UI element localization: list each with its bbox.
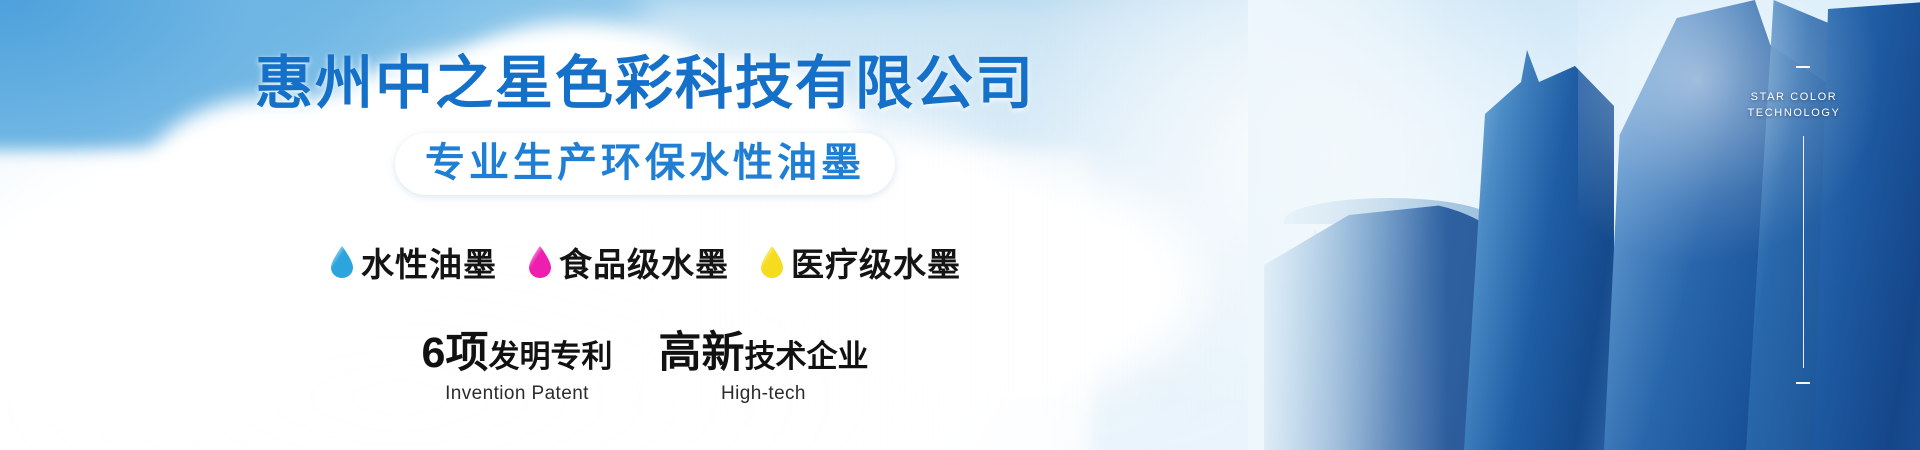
badge-subtext: 技术企业 xyxy=(744,341,868,372)
right-caption-line1: STAR COLOR xyxy=(1704,90,1884,106)
badge-chinese-line: 高新技术企业 xyxy=(658,332,868,375)
feature-label: 食品级水墨 xyxy=(559,238,729,286)
caption-tick-bottom xyxy=(1796,382,1810,384)
credential-badge: 高新技术企业High-tech xyxy=(658,332,868,405)
building-center-tower xyxy=(1464,50,1614,450)
caption-vertical-rule xyxy=(1803,136,1804,368)
company-title: 惠州中之星色彩科技有限公司 xyxy=(0,55,1290,113)
feature-item: 水性油墨 xyxy=(329,238,497,286)
skyscraper-photo xyxy=(1248,0,1920,450)
water-drop-icon xyxy=(527,245,553,279)
badge-english: Invention Patent xyxy=(422,383,613,405)
badge-highlight: 6项 xyxy=(422,332,489,375)
feature-list: 水性油墨食品级水墨医疗级水墨 xyxy=(0,238,1290,286)
feature-item: 医疗级水墨 xyxy=(759,238,961,286)
badge-english: High-tech xyxy=(658,383,868,405)
banner-content: 惠州中之星色彩科技有限公司 专业生产环保水性油墨 水性油墨食品级水墨医疗级水墨 … xyxy=(0,0,1290,450)
water-drop-icon xyxy=(329,245,355,279)
building-far-right xyxy=(1814,0,1920,450)
feature-label: 医疗级水墨 xyxy=(791,238,961,286)
badge-subtext: 发明专利 xyxy=(488,341,612,372)
tagline-text: 专业生产环保水性油墨 xyxy=(425,142,865,184)
right-caption: STAR COLOR TECHNOLOGY xyxy=(1704,90,1884,122)
tagline-pill: 专业生产环保水性油墨 xyxy=(395,133,895,195)
feature-item: 食品级水墨 xyxy=(527,238,729,286)
caption-tick-top xyxy=(1796,66,1810,68)
badge-chinese-line: 6项发明专利 xyxy=(422,332,613,375)
water-drop-icon xyxy=(759,245,785,279)
credential-badge: 6项发明专利Invention Patent xyxy=(422,332,613,405)
badge-highlight: 高新 xyxy=(658,332,744,375)
feature-label: 水性油墨 xyxy=(361,238,497,286)
promotional-banner: Star Color STAR COLOR TECHNOLOGY 惠州中之星色彩… xyxy=(0,0,1920,450)
badge-list: 6项发明专利Invention Patent高新技术企业High-tech xyxy=(0,332,1290,405)
right-caption-line2: TECHNOLOGY xyxy=(1704,106,1884,122)
